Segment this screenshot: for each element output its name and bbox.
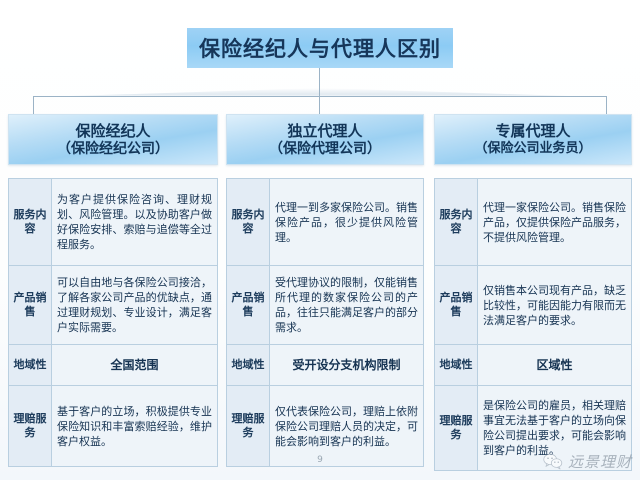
comparison-table-independent-agent: 服务内容 代理一到多家保险公司。销售保险产品，很少提供风险管理。 产品销售 受代… [226, 178, 424, 467]
row-label-region: 地域性 [9, 345, 52, 385]
table-row: 地域性 全国范围 [9, 345, 217, 386]
cell-claims: 仅代表保险公司，理赔上依附保险公司理赔人员的决定，可能会影响到客户的利益。 [270, 386, 423, 466]
watermark-text: 远景理财 [568, 451, 632, 472]
column-header-independent-agent: 独立代理人 （保险代理公司） [226, 114, 424, 165]
column-title-line2: （保险公司业务员） [474, 140, 591, 158]
table-row: 服务内容 为客户提供保险咨询、理财规划、风险管理。以及协助客户做好保险安排、索赔… [9, 179, 217, 266]
connector-drop-left [33, 96, 34, 114]
comparison-table-broker: 服务内容 为客户提供保险咨询、理财规划、风险管理。以及协助客户做好保险安排、索赔… [8, 178, 218, 467]
table-row: 产品销售 受代理协议的限制，仅能销售所代理的数家保险公司的产品，往往只能满足客户… [227, 266, 423, 345]
watermark: 远景理财 [543, 451, 632, 472]
row-label-product: 产品销售 [9, 266, 52, 344]
column-title-line2: （保险经纪公司） [57, 140, 169, 158]
row-label-product: 产品销售 [227, 266, 270, 344]
row-label-service: 服务内容 [435, 179, 478, 265]
cell-region: 区域性 [478, 345, 631, 385]
table-row: 产品销售 仅销售本公司现有产品，缺乏比较性，可能因能力有限而无法满足客户的要求。 [435, 266, 631, 345]
row-label-region: 地域性 [435, 345, 478, 385]
table-row: 地域性 受开设分支机构限制 [227, 345, 423, 386]
table-row: 地域性 区域性 [435, 345, 631, 386]
cell-claims: 基于客户的立场，积极提供专业保险知识和丰富索赔经验，维护客户权益。 [52, 386, 217, 466]
cell-product: 可以自由地与各保险公司接洽，了解各家公司产品的优缺点，通过理财规划、专业设计，满… [52, 266, 217, 344]
column-title-line1: 保险经纪人 [75, 122, 150, 140]
row-label-claims: 理赔服务 [9, 386, 52, 466]
cell-service: 代理一到多家保险公司。销售保险产品，很少提供风险管理。 [270, 179, 423, 265]
column-title-line1: 专属代理人 [495, 122, 570, 140]
cell-product: 仅销售本公司现有产品，缺乏比较性，可能因能力有限而无法满足客户的要求。 [478, 266, 631, 344]
slide-title-box: 保险经纪人与代理人区别 [187, 28, 453, 68]
column-broker: 保险经纪人 （保险经纪公司） 服务内容 为客户提供保险咨询、理财规划、风险管理。… [8, 114, 218, 467]
table-row: 产品销售 可以自由地与各保险公司接洽，了解各家公司产品的优缺点，通过理财规划、专… [9, 266, 217, 345]
slide-canvas: 保险经纪人与代理人区别 保险经纪人 （保险经纪公司） 服务内容 为客户提供保险咨… [0, 0, 640, 480]
table-row: 服务内容 代理一到多家保险公司。销售保险产品，很少提供风险管理。 [227, 179, 423, 266]
column-header-broker: 保险经纪人 （保险经纪公司） [8, 114, 218, 165]
wechat-icon [543, 453, 563, 470]
connector-drop-center [319, 96, 320, 114]
column-header-captive-agent: 专属代理人 （保险公司业务员） [434, 114, 632, 165]
column-captive-agent: 专属代理人 （保险公司业务员） 服务内容 代理一家保险公司。销售保险产品，仅提供… [434, 114, 632, 471]
connector-stem [319, 68, 320, 97]
row-label-service: 服务内容 [227, 179, 270, 265]
cell-service: 为客户提供保险咨询、理财规划、风险管理。以及协助客户做好保险安排、索赔与追偿等全… [52, 179, 217, 265]
cell-product: 受代理协议的限制，仅能销售所代理的数家保险公司的产品，往往只能满足客户的部分需求… [270, 266, 423, 344]
row-label-service: 服务内容 [9, 179, 52, 265]
page-title: 保险经纪人与代理人区别 [199, 33, 441, 63]
comparison-table-captive-agent: 服务内容 代理一家保险公司。销售保险产品，仅提供保险产品服务，不提供风险管理。 … [434, 178, 632, 471]
column-title-line1: 独立代理人 [287, 122, 362, 140]
row-label-product: 产品销售 [435, 266, 478, 344]
cell-region: 全国范围 [52, 345, 217, 385]
row-label-region: 地域性 [227, 345, 270, 385]
row-label-claims: 理赔服务 [227, 386, 270, 466]
column-title-line2: （保险代理公司） [269, 140, 381, 158]
cell-region: 受开设分支机构限制 [270, 345, 423, 385]
connector-horizontal-bar [33, 96, 607, 97]
table-row: 服务内容 代理一家保险公司。销售保险产品，仅提供保险产品服务，不提供风险管理。 [435, 179, 631, 266]
column-independent-agent: 独立代理人 （保险代理公司） 服务内容 代理一到多家保险公司。销售保险产品，很少… [226, 114, 424, 467]
connector-drop-right [606, 96, 607, 114]
cell-service: 代理一家保险公司。销售保险产品，仅提供保险产品服务，不提供风险管理。 [478, 179, 631, 265]
